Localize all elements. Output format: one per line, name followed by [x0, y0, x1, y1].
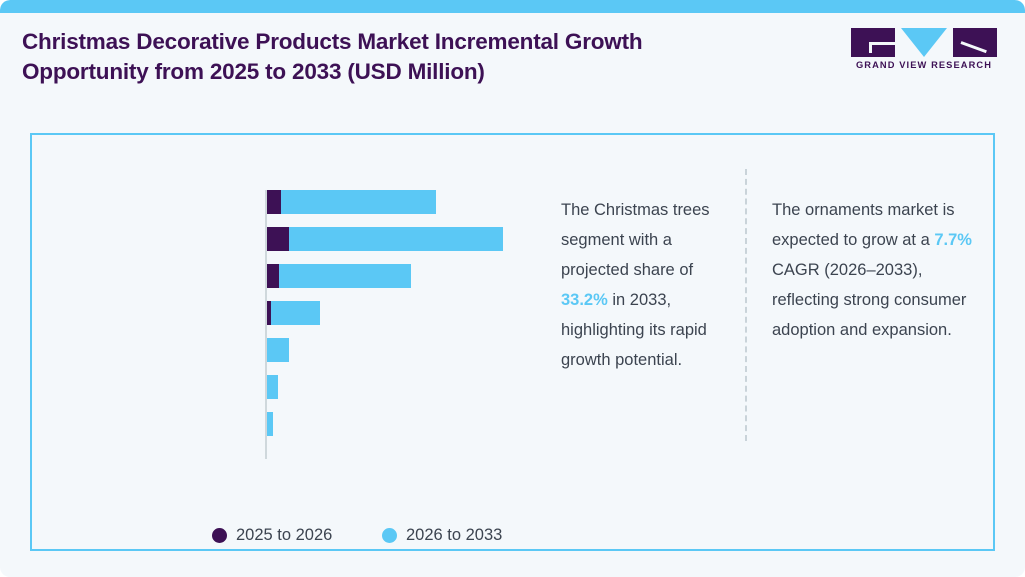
bar-segment-series-2[interactable]: [267, 338, 289, 362]
bar-segment-series-1[interactable]: [267, 190, 281, 214]
logo-g-notch-icon: [869, 42, 895, 45]
callout-1-highlight: 33.2%: [561, 291, 608, 309]
legend-label: 2025 to 2026: [236, 526, 332, 545]
bar-track: [267, 264, 411, 288]
legend-swatch-icon: [382, 528, 397, 543]
legend-item-2[interactable]: 2026 to 2033: [382, 526, 502, 552]
bar-row[interactable]: Wreath And Garlands: [32, 301, 532, 325]
logo-wordmark: GRAND VIEW RESEARCH: [851, 60, 997, 70]
top-accent-bar: [0, 0, 1025, 13]
infographic-page: Christmas Decorative Products Market Inc…: [0, 0, 1025, 577]
bar-track: [267, 301, 320, 325]
bar-row[interactable]: Christmas Lights: [32, 227, 532, 251]
logo-mark: [851, 28, 997, 57]
page-title-line-1: Christmas Decorative Products Market Inc…: [22, 27, 802, 57]
callout-ornaments-cagr: The ornaments market is expected to grow…: [772, 195, 972, 345]
logo-g-notch2-icon: [869, 42, 872, 53]
logo-r-block-icon: [953, 28, 997, 57]
bar-row[interactable]: Christmas Trees: [32, 190, 532, 214]
legend-label: 2026 to 2033: [406, 526, 502, 545]
bar-segment-series-2[interactable]: [281, 190, 436, 214]
bar-row[interactable]: Nativity Sets: [32, 338, 532, 362]
bar-track: [267, 190, 436, 214]
bar-segment-series-1[interactable]: [267, 264, 279, 288]
bar-row[interactable]: Candles: [32, 375, 532, 399]
logo-v-triangle-icon: [901, 28, 947, 57]
content-panel: Christmas TreesChristmas LightsOrnaments…: [30, 133, 995, 551]
bar-segment-series-1[interactable]: [267, 227, 289, 251]
callout-2-text-before: The ornaments market is expected to grow…: [772, 201, 954, 249]
incremental-growth-bar-chart: Christmas TreesChristmas LightsOrnaments…: [32, 168, 532, 498]
bar-row[interactable]: Ornaments: [32, 264, 532, 288]
bar-track: [267, 338, 289, 362]
callout-2-text-after: CAGR (2026–2033), reflecting strong cons…: [772, 261, 966, 339]
page-title: Christmas Decorative Products Market Inc…: [22, 27, 802, 87]
bar-row[interactable]: Others: [32, 412, 532, 436]
bar-segment-series-2[interactable]: [279, 264, 411, 288]
bar-segment-series-2[interactable]: [271, 301, 320, 325]
bar-segment-series-2[interactable]: [267, 375, 278, 399]
bar-segment-series-2[interactable]: [267, 412, 273, 436]
bar-track: [267, 412, 273, 436]
legend-item-1[interactable]: 2025 to 2026: [212, 526, 332, 552]
legend-swatch-icon: [212, 528, 227, 543]
bar-track: [267, 375, 278, 399]
callout-divider: [745, 169, 747, 441]
bar-segment-series-2[interactable]: [289, 227, 503, 251]
bar-track: [267, 227, 503, 251]
page-title-line-2: Opportunity from 2025 to 2033 (USD Milli…: [22, 57, 802, 87]
callout-1-text-before: The Christmas trees segment with a proje…: [561, 201, 710, 279]
callout-christmas-trees-share: The Christmas trees segment with a proje…: [561, 195, 736, 375]
grand-view-research-logo: GRAND VIEW RESEARCH: [851, 28, 997, 74]
callout-2-highlight: 7.7%: [934, 231, 972, 249]
